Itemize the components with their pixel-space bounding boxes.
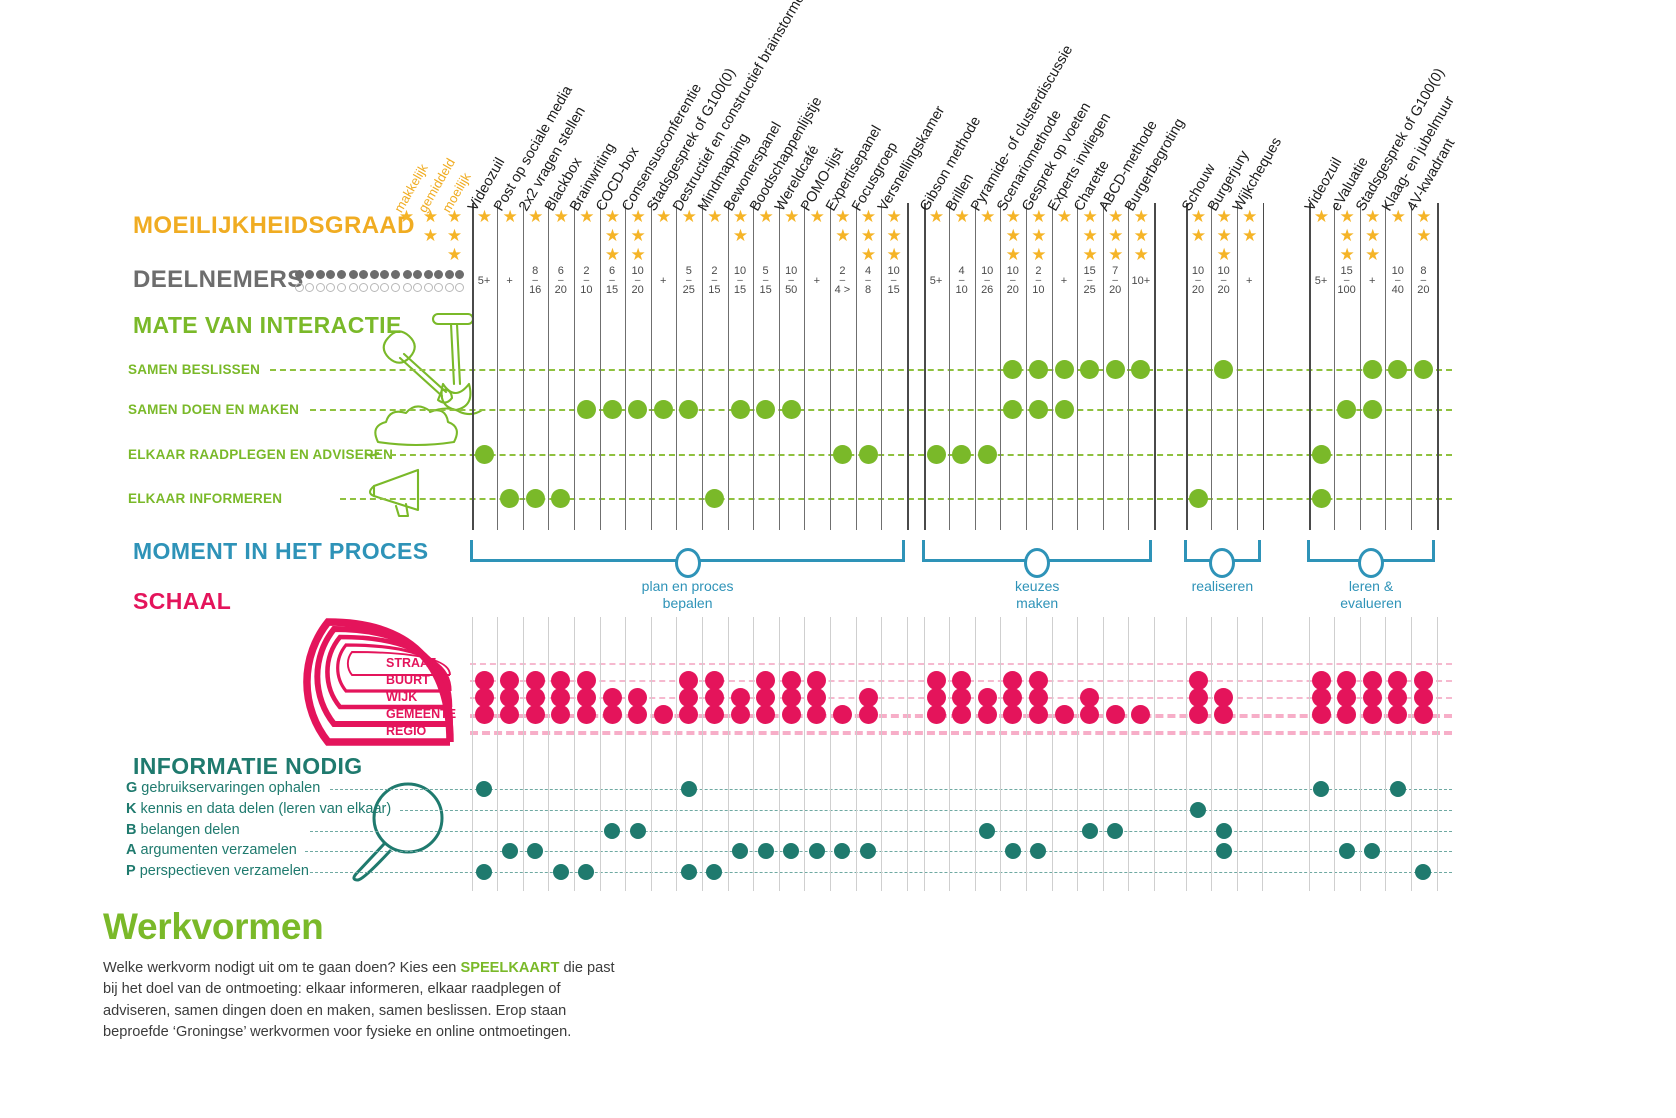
- column-star: ★: [928, 208, 945, 225]
- info-dot: [1313, 781, 1329, 797]
- column-star: ★: [758, 208, 775, 225]
- info-dot: [476, 864, 492, 880]
- group-right-border-3: [1437, 203, 1439, 530]
- group-right-border-2: [1263, 203, 1265, 530]
- column-star: ★: [886, 227, 903, 244]
- interaction-dot: [1337, 400, 1356, 419]
- info-dot: [809, 843, 825, 859]
- participant-legend-dot-filled: [326, 270, 335, 279]
- interaction-row-label-2: ELKAAR RAADPLEGEN EN ADVISEREN: [128, 447, 393, 462]
- interaction-dot: [756, 400, 775, 419]
- phase-label-line1-0: plan en proces: [618, 578, 758, 595]
- column-separator: [1360, 203, 1361, 530]
- column-separator-lower: [1211, 617, 1212, 891]
- section-title-moment: MOMENT IN HET PROCES: [133, 538, 429, 565]
- column-star: ★: [1241, 227, 1258, 244]
- phase-label-2: realiseren: [1152, 578, 1292, 595]
- column-separator: [1077, 203, 1078, 530]
- scale-row-guide-4: [470, 731, 1452, 735]
- scale-dot: [603, 705, 622, 724]
- column-separator: [856, 203, 857, 530]
- column-star: ★: [1364, 227, 1381, 244]
- column-separator-lower: [1360, 617, 1361, 891]
- column-separator-lower: [1128, 617, 1129, 891]
- column-star: ★: [630, 227, 647, 244]
- info-row-label-3: A argumenten verzamelen: [126, 842, 297, 858]
- scale-dot: [475, 705, 494, 724]
- column-separator-lower: [1309, 617, 1310, 891]
- column-separator-lower: [1154, 617, 1155, 891]
- phase-marker-2: [1209, 548, 1235, 578]
- participant-legend-dot-filled: [316, 270, 325, 279]
- interaction-dot: [628, 400, 647, 419]
- difficulty-legend-star: ★: [446, 208, 463, 225]
- interaction-dot: [859, 445, 878, 464]
- column-separator-lower: [651, 617, 652, 891]
- interaction-dot: [1003, 360, 1022, 379]
- participant-legend-dot-filled: [403, 270, 412, 279]
- column-star: ★: [1390, 208, 1407, 225]
- participant-legend-dot-empty: [434, 283, 443, 292]
- participant-legend-dot-filled: [359, 270, 368, 279]
- column-star: ★: [1133, 208, 1150, 225]
- column-separator-lower: [856, 617, 857, 891]
- column-star: ★: [1030, 246, 1047, 263]
- column-separator: [949, 203, 950, 530]
- column-separator-lower: [924, 617, 925, 891]
- group-right-border-1: [1154, 203, 1156, 530]
- column-separator: [1211, 203, 1212, 530]
- info-dot: [758, 843, 774, 859]
- column-separator: [1052, 203, 1053, 530]
- column-star: ★: [1339, 227, 1356, 244]
- column-separator-lower: [949, 617, 950, 891]
- column-separator-lower: [1437, 617, 1438, 891]
- interaction-dot: [1080, 360, 1099, 379]
- phase-label-line1-3: leren &: [1301, 578, 1441, 595]
- footer-highlight: SPEELKAART: [460, 960, 559, 976]
- column-star: ★: [1082, 208, 1099, 225]
- column-star: ★: [1082, 227, 1099, 244]
- column-star: ★: [604, 246, 621, 263]
- scale-dot: [1189, 705, 1208, 724]
- difficulty-legend-star: ★: [446, 227, 463, 244]
- column-star: ★: [630, 246, 647, 263]
- column-separator: [625, 203, 626, 530]
- section-title-participants: DEELNEMERS: [133, 266, 304, 294]
- info-dot: [732, 843, 748, 859]
- difficulty-legend-star: ★: [422, 208, 439, 225]
- scale-dot: [833, 705, 852, 724]
- info-dot: [1364, 843, 1380, 859]
- column-star: ★: [655, 208, 672, 225]
- column-separator-lower: [1186, 617, 1187, 891]
- scale-label-1: BUURT: [386, 673, 430, 687]
- interaction-dot: [475, 445, 494, 464]
- column-star: ★: [732, 208, 749, 225]
- interaction-dot: [978, 445, 997, 464]
- column-separator-lower: [881, 617, 882, 891]
- scale-dot: [1080, 705, 1099, 724]
- info-dot: [681, 864, 697, 880]
- column-separator: [497, 203, 498, 530]
- scale-dot: [1106, 705, 1125, 724]
- column-separator: [600, 203, 601, 530]
- scale-label-2: WIJK: [386, 690, 417, 704]
- participant-legend-dot-filled: [424, 270, 433, 279]
- interaction-dot: [679, 400, 698, 419]
- column-separator: [1128, 203, 1129, 530]
- group-left-border-0: [472, 203, 474, 530]
- column-star: ★: [886, 208, 903, 225]
- column-separator: [1334, 203, 1335, 530]
- participant-legend-dot-empty: [337, 283, 346, 292]
- column-star: ★: [1005, 246, 1022, 263]
- column-star: ★: [1005, 208, 1022, 225]
- scale-dot: [1131, 705, 1150, 724]
- column-star: ★: [1241, 208, 1258, 225]
- interaction-dot: [1055, 400, 1074, 419]
- column-separator-lower: [1237, 617, 1238, 891]
- column-star: ★: [1216, 246, 1233, 263]
- participant-legend-dot-empty: [380, 283, 389, 292]
- info-dot: [783, 843, 799, 859]
- info-dot: [1030, 843, 1046, 859]
- column-star: ★: [809, 208, 826, 225]
- column-separator-lower: [600, 617, 601, 891]
- column-star: ★: [706, 208, 723, 225]
- interaction-dot: [1055, 360, 1074, 379]
- column-star: ★: [860, 227, 877, 244]
- column-star: ★: [1107, 208, 1124, 225]
- phase-marker-3: [1358, 548, 1384, 578]
- scale-dot: [577, 705, 596, 724]
- column-separator-lower: [625, 617, 626, 891]
- interaction-dot: [833, 445, 852, 464]
- interaction-dot: [1414, 360, 1433, 379]
- interaction-dot: [500, 489, 519, 508]
- info-dot: [1390, 781, 1406, 797]
- participant-legend-dot-empty: [370, 283, 379, 292]
- participants-min: 15: [879, 285, 909, 296]
- scale-rainbow-icon: [218, 612, 468, 757]
- info-dot: [1216, 823, 1232, 839]
- info-dot: [476, 781, 492, 797]
- interaction-dot: [731, 400, 750, 419]
- column-separator: [1103, 203, 1104, 530]
- footer-title: Werkvormen: [103, 906, 323, 948]
- footer-body-part1: Welke werkvorm nodigt uit om te gaan doe…: [103, 960, 460, 976]
- interaction-row-label-1: SAMEN DOEN EN MAKEN: [128, 402, 299, 417]
- column-star: ★: [732, 227, 749, 244]
- participant-legend-dot-empty: [413, 283, 422, 292]
- scale-dot: [1337, 705, 1356, 724]
- column-star: ★: [1339, 246, 1356, 263]
- column-star: ★: [630, 208, 647, 225]
- interaction-row-label-3: ELKAAR INFORMEREN: [128, 491, 282, 506]
- info-dot: [502, 843, 518, 859]
- info-row-guide-1: [400, 810, 1452, 811]
- info-row-label-2: B belangen delen: [126, 822, 240, 838]
- column-separator: [830, 203, 831, 530]
- column-separator-lower: [830, 617, 831, 891]
- info-dot: [1339, 843, 1355, 859]
- column-separator: [523, 203, 524, 530]
- column-star: ★: [527, 208, 544, 225]
- column-star: ★: [1107, 227, 1124, 244]
- column-separator-lower: [1000, 617, 1001, 891]
- scale-dot: [526, 705, 545, 724]
- scale-label-3: GEMEENTE: [386, 707, 456, 721]
- participants-min: 20: [1408, 285, 1438, 296]
- participant-legend-dot-empty: [326, 283, 335, 292]
- difficulty-legend-star: ★: [446, 246, 463, 263]
- info-row-label-1: K kennis en data delen (leren van elkaar…: [126, 801, 391, 817]
- column-separator: [1026, 203, 1027, 530]
- column-star: ★: [1082, 246, 1099, 263]
- participant-legend-dot-filled: [349, 270, 358, 279]
- scale-dot: [978, 705, 997, 724]
- column-star: ★: [1190, 227, 1207, 244]
- column-separator-lower: [523, 617, 524, 891]
- column-star: ★: [1133, 227, 1150, 244]
- info-row-label-4: P perspectieven verzamelen: [126, 863, 309, 879]
- scale-row-guide-0: [470, 663, 1452, 665]
- interaction-dot: [654, 400, 673, 419]
- section-title-scale: SCHAAL: [133, 588, 231, 615]
- info-dot: [553, 864, 569, 880]
- column-separator-lower: [753, 617, 754, 891]
- column-star: ★: [860, 246, 877, 263]
- interaction-dot: [705, 489, 724, 508]
- interaction-dot: [1363, 400, 1382, 419]
- interaction-row-guide-0: [270, 369, 1452, 371]
- group-right-border-0: [907, 203, 909, 530]
- column-star: ★: [553, 208, 570, 225]
- info-row-key-0: G: [126, 780, 137, 796]
- info-dot: [1216, 843, 1232, 859]
- interaction-dot: [1363, 360, 1382, 379]
- column-separator: [753, 203, 754, 530]
- info-dot: [630, 823, 646, 839]
- scale-dot: [628, 705, 647, 724]
- column-star: ★: [1005, 227, 1022, 244]
- column-star: ★: [1364, 208, 1381, 225]
- scale-dot: [679, 705, 698, 724]
- column-star: ★: [502, 208, 519, 225]
- interaction-dot: [526, 489, 545, 508]
- group-left-border-1: [924, 203, 926, 530]
- scale-dot: [1055, 705, 1074, 724]
- participant-legend-dot-empty: [391, 283, 400, 292]
- participant-legend-dot-filled: [305, 270, 314, 279]
- column-separator: [676, 203, 677, 530]
- phase-label-line2-3: evalueren: [1301, 595, 1441, 612]
- info-dot: [578, 864, 594, 880]
- column-star: ★: [834, 227, 851, 244]
- infographic-root: MOEILIJKHEIDSGRAAD DEELNEMERS MATE VAN I…: [0, 0, 1676, 1118]
- interaction-dot: [1106, 360, 1125, 379]
- column-separator-lower: [728, 617, 729, 891]
- column-separator-lower: [702, 617, 703, 891]
- column-separator-lower: [1077, 617, 1078, 891]
- scale-dot: [782, 705, 801, 724]
- scale-dot: [731, 705, 750, 724]
- column-star: ★: [886, 246, 903, 263]
- column-star: ★: [1030, 227, 1047, 244]
- phase-marker-0: [675, 548, 701, 578]
- participant-legend-dot-filled: [337, 270, 346, 279]
- phase-marker-1: [1024, 548, 1050, 578]
- column-star: ★: [604, 208, 621, 225]
- column-star: ★: [604, 227, 621, 244]
- scale-dot: [1003, 705, 1022, 724]
- column-participants-0-16: 10–15: [879, 266, 909, 296]
- scale-dot: [1214, 705, 1233, 724]
- column-star: ★: [979, 208, 996, 225]
- footer-body: Welke werkvorm nodigt uit om te gaan doe…: [103, 958, 623, 1043]
- phase-label-line1-1: keuzes: [967, 578, 1107, 595]
- column-separator-lower: [548, 617, 549, 891]
- group-left-border-2: [1186, 203, 1188, 530]
- column-separator-lower: [1334, 617, 1335, 891]
- difficulty-legend-star: ★: [398, 208, 415, 225]
- scale-dot: [654, 705, 673, 724]
- column-separator-lower: [497, 617, 498, 891]
- scale-dot: [952, 705, 971, 724]
- info-dot: [706, 864, 722, 880]
- info-row-guide-0: [330, 789, 1452, 790]
- column-star: ★: [954, 208, 971, 225]
- column-separator-lower: [676, 617, 677, 891]
- interaction-dot: [1214, 360, 1233, 379]
- column-separator-lower: [1026, 617, 1027, 891]
- participant-legend-dot-empty: [349, 283, 358, 292]
- column-separator: [1411, 203, 1412, 530]
- participant-legend-dot-filled: [455, 270, 464, 279]
- interaction-dot: [1312, 489, 1331, 508]
- info-row-label-0: G gebruikservaringen ophalen: [126, 780, 320, 796]
- column-separator: [728, 203, 729, 530]
- column-star: ★: [1056, 208, 1073, 225]
- participant-legend-dot-empty: [295, 283, 304, 292]
- participant-legend-dot-filled: [413, 270, 422, 279]
- column-separator: [548, 203, 549, 530]
- column-star: ★: [578, 208, 595, 225]
- info-dot: [604, 823, 620, 839]
- column-separator-lower: [975, 617, 976, 891]
- column-separator: [1237, 203, 1238, 530]
- scale-dot: [705, 705, 724, 724]
- interaction-dot: [1131, 360, 1150, 379]
- scale-dot: [1363, 705, 1382, 724]
- phase-label-3: leren &evalueren: [1301, 578, 1441, 611]
- interaction-dot: [577, 400, 596, 419]
- column-star: ★: [1030, 208, 1047, 225]
- scale-dot: [756, 705, 775, 724]
- column-separator-lower: [472, 617, 473, 891]
- column-star: ★: [1107, 246, 1124, 263]
- participant-legend-dot-empty: [455, 283, 464, 292]
- column-separator-lower: [804, 617, 805, 891]
- info-row-key-2: B: [126, 822, 136, 838]
- participant-legend-dot-empty: [424, 283, 433, 292]
- participant-legend-dot-filled: [445, 270, 454, 279]
- phase-label-line1-2: realiseren: [1152, 578, 1292, 595]
- interaction-dot: [1029, 400, 1048, 419]
- info-dot: [1005, 843, 1021, 859]
- column-star: ★: [476, 208, 493, 225]
- scale-dot: [927, 705, 946, 724]
- phase-label-line2-1: maken: [967, 595, 1107, 612]
- column-participants-2-2: +: [1234, 276, 1264, 287]
- scale-label-4: REGIO: [386, 724, 426, 738]
- info-row-key-1: K: [126, 801, 136, 817]
- difficulty-legend-star: ★: [422, 227, 439, 244]
- info-row-key-4: P: [126, 863, 136, 879]
- column-separator: [1000, 203, 1001, 530]
- column-separator-lower: [1262, 617, 1263, 891]
- interaction-dot: [1388, 360, 1407, 379]
- info-row-guide-3: [305, 851, 1452, 852]
- column-star: ★: [1415, 227, 1432, 244]
- column-star: ★: [1339, 208, 1356, 225]
- phase-label-0: plan en procesbepalen: [618, 578, 758, 611]
- column-star: ★: [1313, 208, 1330, 225]
- interaction-row-guide-2: [390, 454, 1452, 456]
- scale-dot: [1029, 705, 1048, 724]
- interaction-dot: [603, 400, 622, 419]
- info-dot: [1190, 802, 1206, 818]
- scale-dot: [1414, 705, 1433, 724]
- column-star: ★: [1133, 246, 1150, 263]
- column-participants-1-8: 10+: [1126, 276, 1156, 287]
- participant-legend-dot-filled: [295, 270, 304, 279]
- interaction-dot: [1003, 400, 1022, 419]
- info-dot: [527, 843, 543, 859]
- column-separator: [881, 203, 882, 530]
- info-row-key-3: A: [126, 842, 136, 858]
- interaction-dot: [1312, 445, 1331, 464]
- column-separator-lower: [574, 617, 575, 891]
- column-separator: [779, 203, 780, 530]
- scale-dot: [500, 705, 519, 724]
- column-star: ★: [860, 208, 877, 225]
- column-separator: [804, 203, 805, 530]
- column-star: ★: [681, 208, 698, 225]
- scale-dot: [859, 705, 878, 724]
- scale-dot: [551, 705, 570, 724]
- interaction-dot: [952, 445, 971, 464]
- column-separator: [975, 203, 976, 530]
- participant-legend-dot-filled: [434, 270, 443, 279]
- column-star: ★: [1415, 208, 1432, 225]
- column-separator-lower: [1052, 617, 1053, 891]
- info-dot: [1415, 864, 1431, 880]
- info-dot: [979, 823, 995, 839]
- column-separator-lower: [907, 617, 908, 891]
- column-separator-lower: [779, 617, 780, 891]
- participant-legend-dot-filled: [391, 270, 400, 279]
- phase-label-1: keuzesmaken: [967, 578, 1107, 611]
- group-left-border-3: [1309, 203, 1311, 530]
- column-separator: [702, 203, 703, 530]
- column-star: ★: [783, 208, 800, 225]
- section-title-difficulty: MOEILIJKHEIDSGRAAD: [133, 212, 415, 240]
- column-separator: [574, 203, 575, 530]
- interaction-dot: [782, 400, 801, 419]
- column-separator-lower: [1103, 617, 1104, 891]
